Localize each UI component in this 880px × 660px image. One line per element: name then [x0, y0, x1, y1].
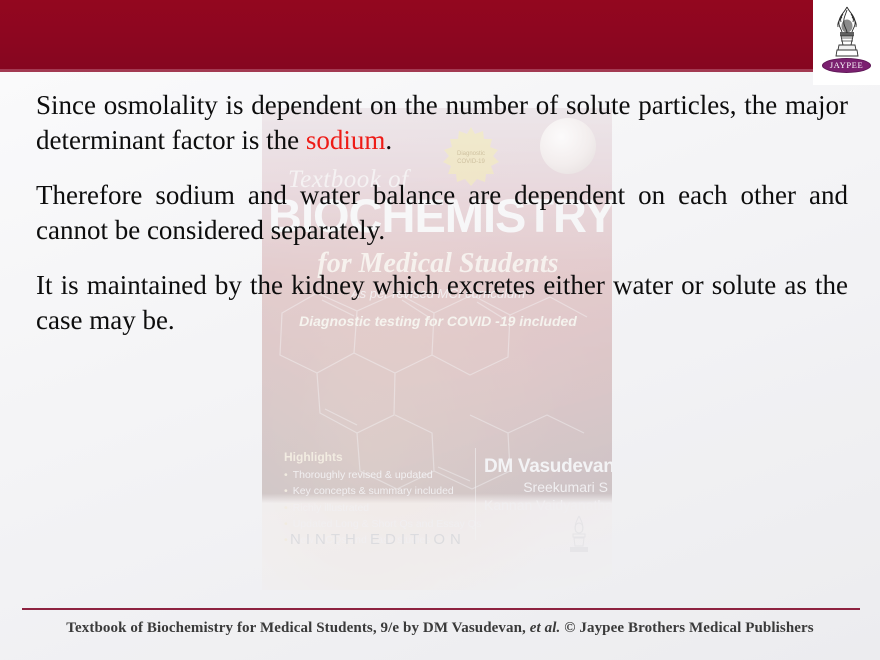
- footer-text-italic: et al.: [530, 620, 561, 636]
- paragraph-2: Therefore sodium and water balance are d…: [36, 178, 848, 248]
- slide: JAYPEE Textbook of BIOCHEMISTRY: [0, 0, 880, 660]
- jaypee-logo: JAYPEE: [813, 0, 880, 85]
- highlights-title: Highlights: [284, 450, 464, 464]
- highlight-item: Thoroughly revised & updated: [284, 467, 464, 483]
- header-band: [0, 0, 815, 72]
- author-primary: DM Vasudevan: [484, 456, 608, 478]
- author-secondary: Sreekumari S: [484, 478, 608, 496]
- book-cover-edition: NINTH EDITION: [290, 531, 466, 548]
- jaypee-badge-label: JAYPEE: [822, 58, 872, 73]
- slide-body: Since osmolality is dependent on the num…: [36, 88, 848, 339]
- paragraph-3: It is maintained by the kidney which exc…: [36, 268, 848, 338]
- author-tertiary: Kannan Vaidyanathan: [484, 496, 608, 514]
- publisher-mark-icon: [562, 514, 596, 560]
- highlight-item: Richly illustrated: [284, 500, 464, 516]
- highlighted-term-sodium: sodium: [306, 125, 386, 155]
- header-band-fill: [0, 0, 815, 69]
- book-cover-divider: [475, 448, 476, 540]
- highlight-item: Key concepts & summary included: [284, 483, 464, 499]
- footer-text-before: Textbook of Biochemistry for Medical Stu…: [66, 620, 530, 636]
- footer-divider: [22, 608, 860, 610]
- highlight-item: Updated Long & Short Qs and Essay Qs: [284, 516, 464, 532]
- paragraph-1-text-after: .: [385, 125, 392, 155]
- book-cover-authors: DM Vasudevan Sreekumari S Kannan Vaidyan…: [484, 456, 608, 514]
- footer-attribution: Textbook of Biochemistry for Medical Stu…: [0, 620, 880, 637]
- paragraph-1-text-before: Since osmolality is dependent on the num…: [36, 90, 848, 155]
- paragraph-1: Since osmolality is dependent on the num…: [36, 88, 848, 158]
- torch-icon: [826, 5, 868, 61]
- footer-text-after: © Jaypee Brothers Medical Publishers: [560, 620, 813, 636]
